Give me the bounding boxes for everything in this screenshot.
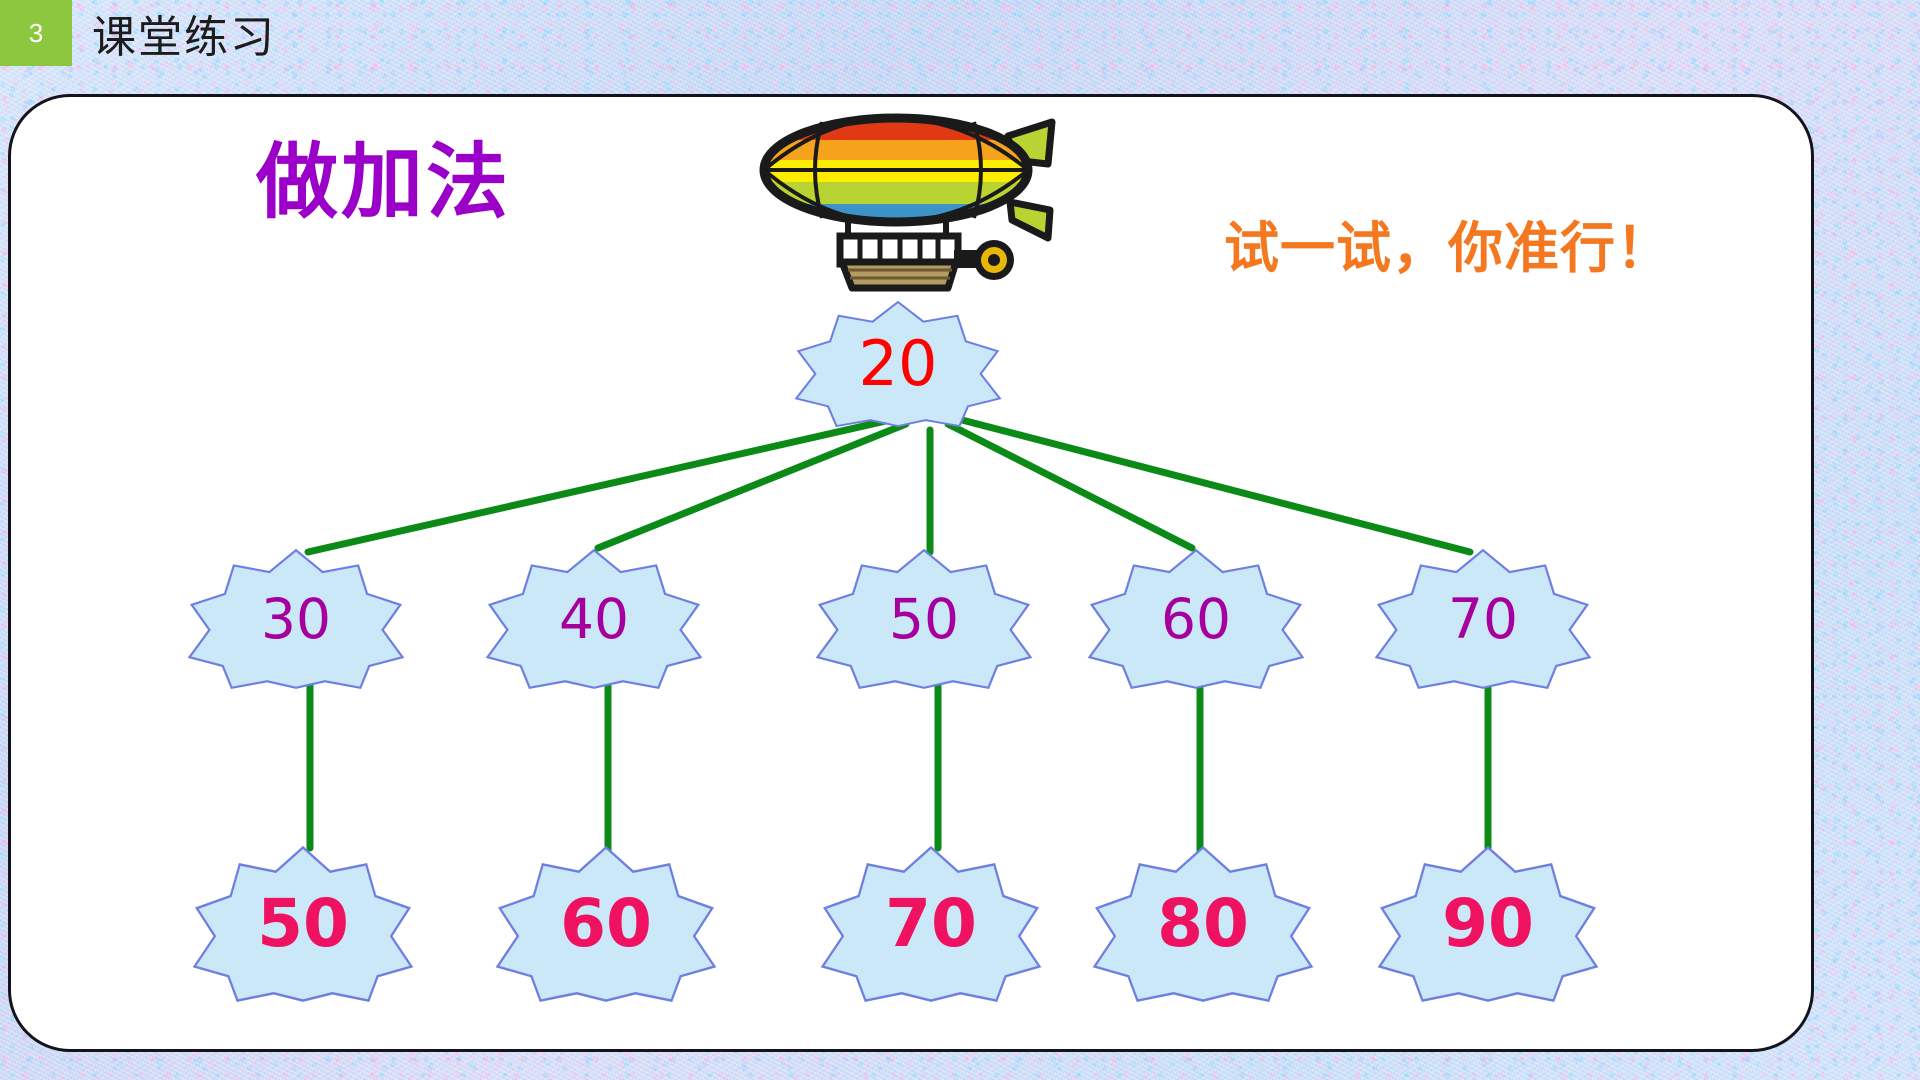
section-heading: 做加法 bbox=[256, 115, 511, 234]
star-value: 60 bbox=[1161, 592, 1231, 647]
star-node-bottom-2[interactable]: 60 bbox=[493, 845, 719, 1003]
star-node-bottom-4[interactable]: 80 bbox=[1090, 845, 1316, 1003]
star-value: 50 bbox=[257, 891, 349, 957]
airship-icon bbox=[756, 98, 1066, 298]
star-value: 90 bbox=[1442, 891, 1534, 957]
star-node-bottom-5[interactable]: 90 bbox=[1375, 845, 1601, 1003]
star-node-middle-4[interactable]: 60 bbox=[1085, 548, 1307, 690]
page-title: 课堂练习 bbox=[92, 0, 276, 66]
slide-number-badge: 3 bbox=[0, 0, 72, 66]
star-node-middle-1[interactable]: 30 bbox=[185, 548, 407, 690]
star-value: 80 bbox=[1157, 891, 1249, 957]
star-value: 70 bbox=[885, 891, 977, 957]
star-value: 40 bbox=[559, 592, 629, 647]
star-node-top[interactable]: 20 bbox=[792, 300, 1004, 428]
star-node-middle-5[interactable]: 70 bbox=[1372, 548, 1594, 690]
star-node-middle-3[interactable]: 50 bbox=[813, 548, 1035, 690]
slide-canvas: 3 课堂练习 做加法 试一试，你准行！ bbox=[0, 0, 1920, 1080]
star-value: 20 bbox=[859, 333, 938, 395]
star-value: 50 bbox=[889, 592, 959, 647]
star-value: 60 bbox=[560, 891, 652, 957]
star-node-bottom-1[interactable]: 50 bbox=[190, 845, 416, 1003]
star-node-middle-2[interactable]: 40 bbox=[483, 548, 705, 690]
star-value: 70 bbox=[1448, 592, 1518, 647]
star-value: 30 bbox=[261, 592, 331, 647]
slide-header: 3 课堂练习 bbox=[0, 0, 1920, 66]
encouragement-text: 试一试，你准行！ bbox=[1224, 218, 1704, 280]
star-node-bottom-3[interactable]: 70 bbox=[818, 845, 1044, 1003]
